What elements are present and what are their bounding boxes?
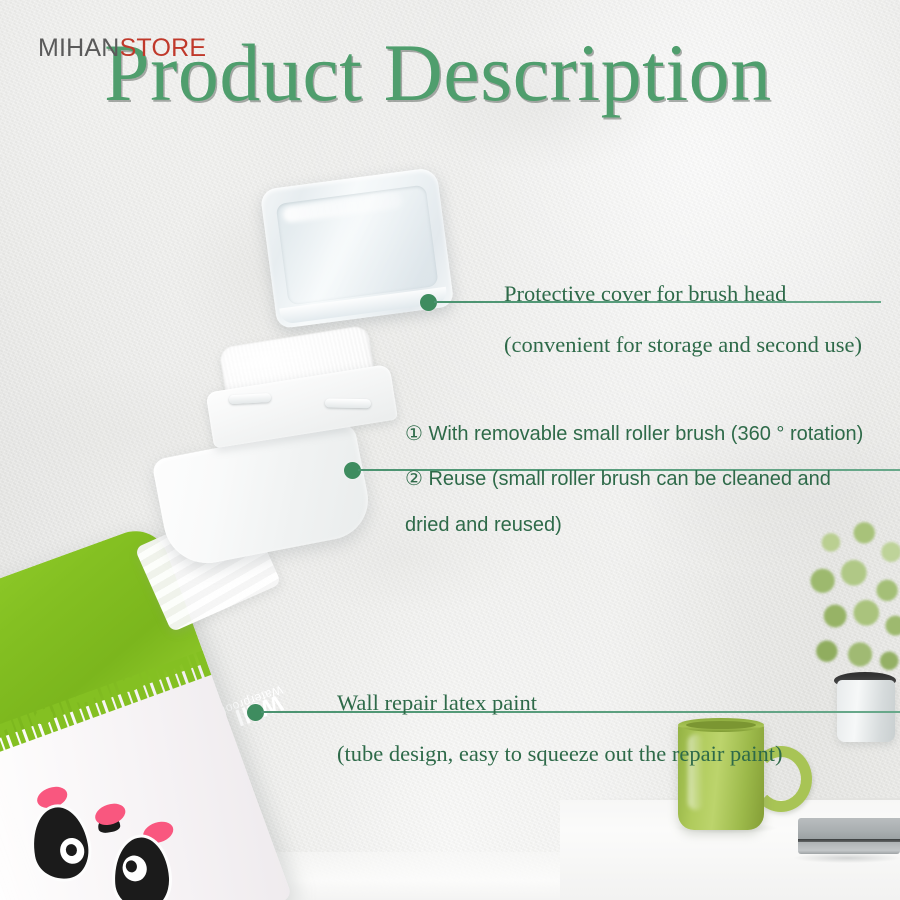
- callout-3-line-1: Wall repair latex paint: [337, 690, 857, 716]
- product-description-image: MIHANSTORE Product Description NET WT: 1…: [0, 0, 900, 900]
- watermark: MIHANSTORE: [38, 34, 206, 63]
- panda-eye-patch-left: [27, 803, 93, 883]
- laptop-shadow: [794, 853, 900, 863]
- laptop: [798, 818, 900, 868]
- laptop-lid: [798, 818, 900, 840]
- callout-2-line-1: ① With removable small roller brush (360…: [405, 423, 900, 446]
- callout-1-line-1: Protective cover for brush head: [504, 281, 900, 307]
- callout-2-line-3: dried and reused): [405, 514, 900, 537]
- callout-text-protective-cover: Protective cover for brush head (conveni…: [504, 255, 900, 383]
- roller-arm-right: [325, 398, 371, 408]
- callout-text-roller-brush: ① With removable small roller brush (360…: [405, 400, 900, 560]
- callout-1-line-2: (convenient for storage and second use): [504, 332, 900, 358]
- laptop-base: [798, 842, 900, 854]
- callout-3-line-2: (tube design, easy to squeeze out the re…: [337, 741, 857, 767]
- callout-2-line-2: ② Reuse (small roller brush can be clean…: [405, 468, 900, 491]
- watermark-part-2: STORE: [120, 34, 207, 62]
- callout-text-latex-paint: Wall repair latex paint (tube design, ea…: [337, 664, 857, 792]
- watermark-part-1: MIHAN: [38, 34, 120, 62]
